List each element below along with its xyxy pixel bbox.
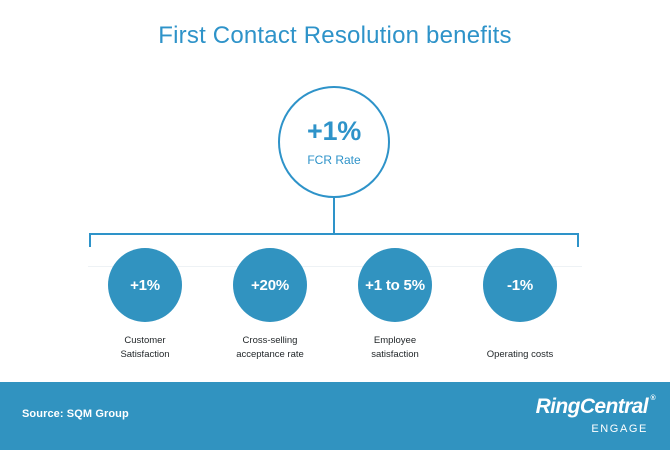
benefit-node-customer-satisfaction: +1% Customer Satisfaction — [80, 248, 210, 362]
benefit-label-line2: acceptance rate — [206, 348, 334, 362]
footer-bar: Source: SQM Group RingCentral ® ENGAGE — [0, 382, 670, 450]
benefit-value: +1 to 5% — [365, 278, 425, 293]
benefit-node-employee-satisfaction: +1 to 5% Employee satisfaction — [330, 248, 460, 362]
ringcentral-logo: RingCentral ® ENGAGE — [536, 396, 648, 435]
benefit-value: +20% — [251, 278, 289, 293]
logo-wordmark-text: RingCentral — [536, 395, 648, 418]
logo-wordmark: RingCentral ® — [536, 396, 648, 417]
benefit-label: Cross-selling acceptance rate — [206, 334, 334, 362]
benefit-value: +1% — [130, 278, 160, 293]
benefit-node-cross-selling: +20% Cross-selling acceptance rate — [205, 248, 335, 362]
benefit-node-operating-costs: -1% Operating costs — [455, 248, 585, 362]
connector-stub-left — [89, 233, 91, 247]
connector-vertical-line — [333, 198, 335, 235]
benefit-label: Employee satisfaction — [331, 334, 459, 362]
benefit-label: Customer Satisfaction — [81, 334, 209, 362]
root-node-fcr-rate: +1% FCR Rate — [278, 86, 390, 198]
benefit-label-line2: satisfaction — [331, 348, 459, 362]
root-node-label: FCR Rate — [307, 154, 360, 166]
root-node-value: +1% — [307, 118, 361, 145]
page-title: First Contact Resolution benefits — [0, 22, 670, 50]
benefit-label-line1: Employee — [331, 334, 459, 348]
benefit-label-line1: Operating costs — [456, 348, 584, 362]
infographic-canvas: First Contact Resolution benefits +1% FC… — [0, 0, 670, 450]
benefit-circle: +20% — [233, 248, 307, 322]
benefit-circle: +1 to 5% — [358, 248, 432, 322]
source-attribution: Source: SQM Group — [22, 408, 129, 420]
benefit-value: -1% — [507, 278, 533, 293]
benefit-circle: +1% — [108, 248, 182, 322]
benefit-label-line2: Satisfaction — [81, 348, 209, 362]
logo-subbrand: ENGAGE — [536, 424, 648, 435]
benefit-label-line1: Cross-selling — [206, 334, 334, 348]
benefit-label: Operating costs — [456, 348, 584, 362]
benefit-circle: -1% — [483, 248, 557, 322]
connector-stub-right — [577, 233, 579, 247]
benefit-label-line1: Customer — [81, 334, 209, 348]
connector-horizontal-line — [89, 233, 579, 235]
registered-trademark-icon: ® — [650, 395, 655, 402]
